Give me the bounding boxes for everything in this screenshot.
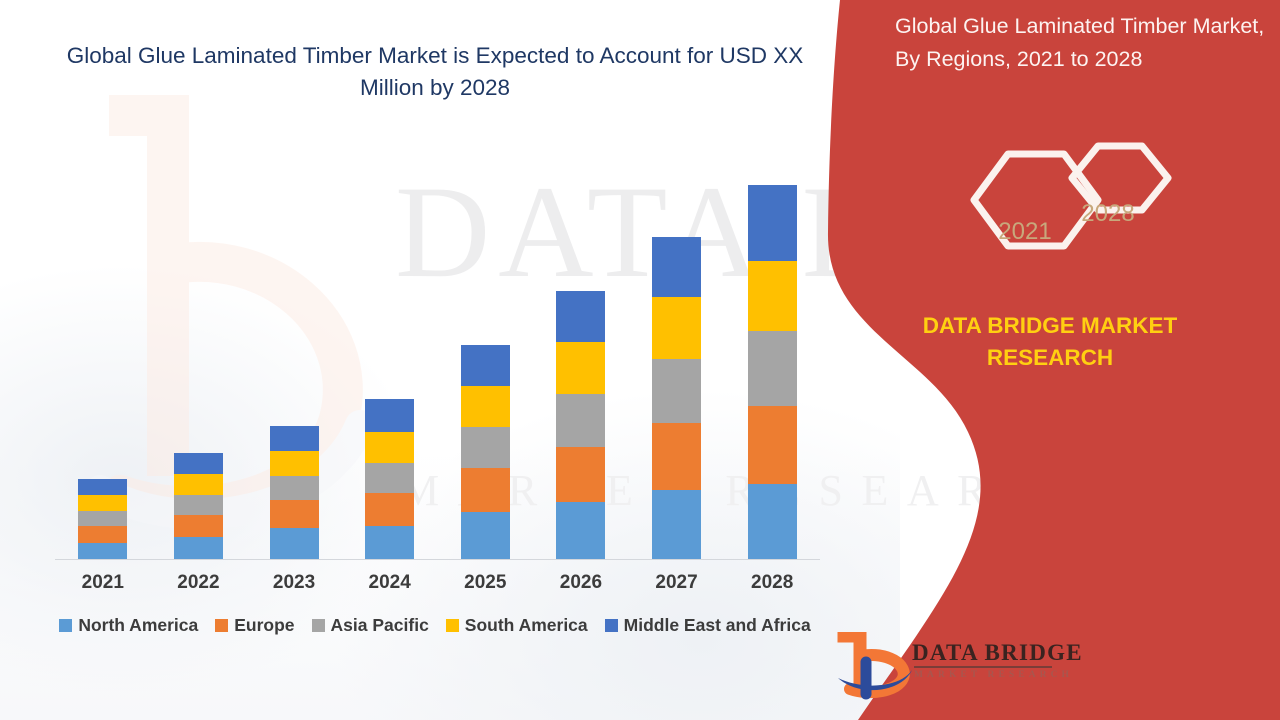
chart-title: Global Glue Laminated Timber Market is E… xyxy=(40,40,830,104)
legend-label: Asia Pacific xyxy=(331,615,429,636)
bar-column xyxy=(438,150,533,559)
bar-stack xyxy=(556,291,605,559)
bar-segment xyxy=(748,406,797,484)
bar-stack xyxy=(174,453,223,559)
bar-stack xyxy=(365,399,414,559)
x-axis-labels: 20212022202320242025202620272028 xyxy=(55,572,820,594)
bar-column xyxy=(151,150,246,559)
legend-item[interactable]: Europe xyxy=(215,615,294,636)
x-axis-label: 2021 xyxy=(55,572,150,594)
x-axis-label: 2026 xyxy=(533,572,628,594)
bar-stack xyxy=(748,185,797,559)
legend-label: Middle East and Africa xyxy=(624,615,811,636)
x-axis-label: 2028 xyxy=(725,572,820,594)
bar-segment xyxy=(270,426,319,451)
bar-column xyxy=(533,150,628,559)
bar-segment xyxy=(365,493,414,526)
bar-segment xyxy=(174,537,223,559)
bar-segment xyxy=(174,453,223,474)
bar-segment xyxy=(365,526,414,559)
bar-segment xyxy=(748,331,797,406)
x-axis-line xyxy=(55,559,820,560)
bar-segment xyxy=(174,495,223,515)
bar-segment xyxy=(652,297,701,359)
bar-column xyxy=(55,150,150,559)
bar-segment xyxy=(461,386,510,427)
side-panel xyxy=(820,0,1280,720)
bar-segment xyxy=(461,468,510,512)
x-axis-label: 2027 xyxy=(629,572,724,594)
chart-plot-area xyxy=(55,150,820,560)
bar-column xyxy=(342,150,437,559)
x-axis-label: 2023 xyxy=(247,572,342,594)
infographic-root: DATA BRIDGE MARKET RESEARCH Global Glue … xyxy=(0,0,1280,720)
bar-segment xyxy=(461,427,510,468)
bar-segment xyxy=(78,526,127,543)
bar-segment xyxy=(174,515,223,537)
legend-item[interactable]: South America xyxy=(446,615,588,636)
legend-swatch-icon xyxy=(446,619,459,632)
legend-swatch-icon xyxy=(312,619,325,632)
legend-label: North America xyxy=(78,615,198,636)
legend-item[interactable]: North America xyxy=(59,615,198,636)
bar-segment xyxy=(78,495,127,511)
bar-segment xyxy=(748,484,797,559)
bar-segment xyxy=(556,502,605,559)
bar-column xyxy=(629,150,724,559)
bar-segment xyxy=(174,474,223,495)
bar-column xyxy=(725,150,820,559)
legend-swatch-icon xyxy=(215,619,228,632)
chart-legend: North AmericaEuropeAsia PacificSouth Ame… xyxy=(40,615,830,636)
bar-segment xyxy=(556,291,605,342)
bar-stack xyxy=(652,237,701,559)
bar-segment xyxy=(652,237,701,297)
bar-segment xyxy=(365,399,414,432)
bar-segment xyxy=(461,512,510,559)
bar-segment xyxy=(270,528,319,559)
bar-segment xyxy=(78,511,127,526)
bar-stack xyxy=(461,345,510,559)
bar-segment xyxy=(365,463,414,493)
bar-segment xyxy=(556,447,605,502)
bar-segment xyxy=(556,342,605,394)
bar-segment xyxy=(270,451,319,476)
side-panel-shape xyxy=(820,0,1280,720)
bar-segment xyxy=(748,261,797,331)
x-axis-label: 2025 xyxy=(438,572,533,594)
bar-segment xyxy=(652,490,701,559)
legend-item[interactable]: Asia Pacific xyxy=(312,615,429,636)
bar-segment xyxy=(78,543,127,559)
bar-segment xyxy=(748,185,797,261)
bar-group xyxy=(55,150,820,559)
bar-segment xyxy=(652,359,701,423)
bar-segment xyxy=(270,476,319,500)
legend-swatch-icon xyxy=(605,619,618,632)
bar-segment xyxy=(365,432,414,463)
legend-label: South America xyxy=(465,615,588,636)
bar-segment xyxy=(270,500,319,528)
bar-segment xyxy=(78,479,127,495)
bar-stack xyxy=(270,426,319,559)
bar-segment xyxy=(652,423,701,490)
x-axis-label: 2022 xyxy=(151,572,246,594)
bar-segment xyxy=(556,394,605,447)
x-axis-label: 2024 xyxy=(342,572,437,594)
legend-swatch-icon xyxy=(59,619,72,632)
bar-segment xyxy=(461,345,510,386)
bar-stack xyxy=(78,479,127,559)
legend-item[interactable]: Middle East and Africa xyxy=(605,615,811,636)
bar-column xyxy=(247,150,342,559)
legend-label: Europe xyxy=(234,615,294,636)
